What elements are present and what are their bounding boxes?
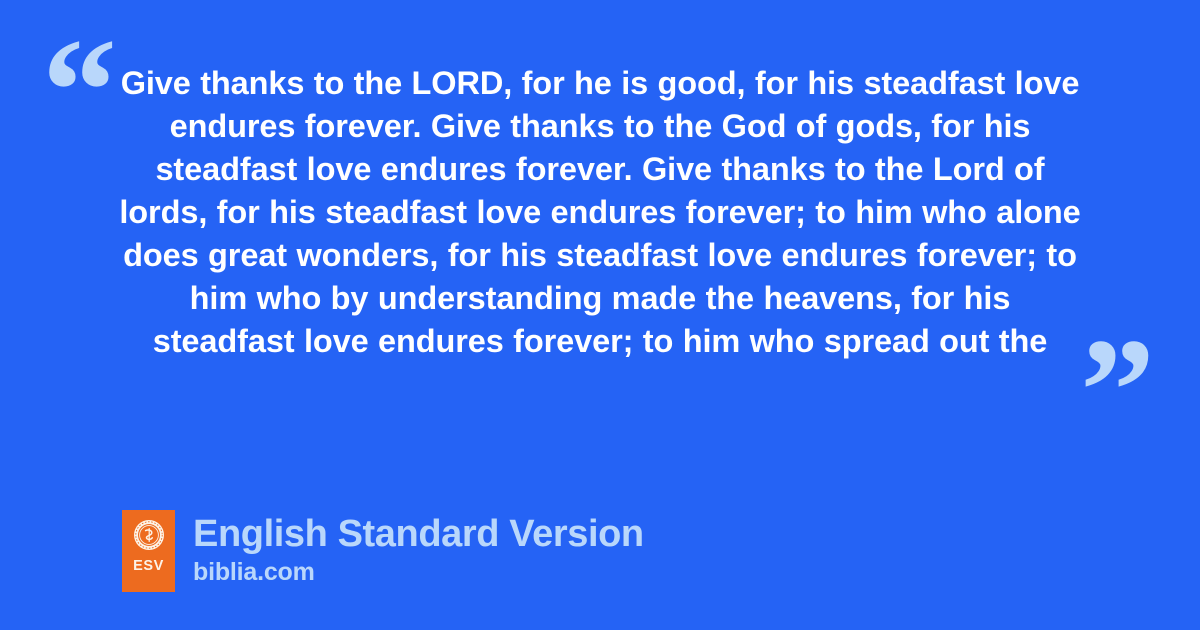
- translation-title: English Standard Version: [193, 511, 644, 557]
- site-url: biblia.com: [193, 557, 644, 587]
- quote-card: “ Give thanks to the LORD, for he is goo…: [0, 0, 1200, 630]
- scripture-quote-text: Give thanks to the LORD, for he is good,…: [118, 62, 1082, 363]
- opening-quote-mark: “: [42, 16, 117, 166]
- closing-quote-mark: ”: [1080, 316, 1155, 466]
- quote-text-block: Give thanks to the LORD, for he is good,…: [118, 62, 1082, 363]
- esv-badge-label: ESV: [133, 559, 164, 574]
- footer-attribution: ESV English Standard Version biblia.com: [122, 510, 644, 592]
- brand-text-group: English Standard Version biblia.com: [193, 510, 644, 587]
- esv-logo-badge: ESV: [122, 510, 175, 592]
- esv-seal-emblem-icon: [133, 519, 165, 551]
